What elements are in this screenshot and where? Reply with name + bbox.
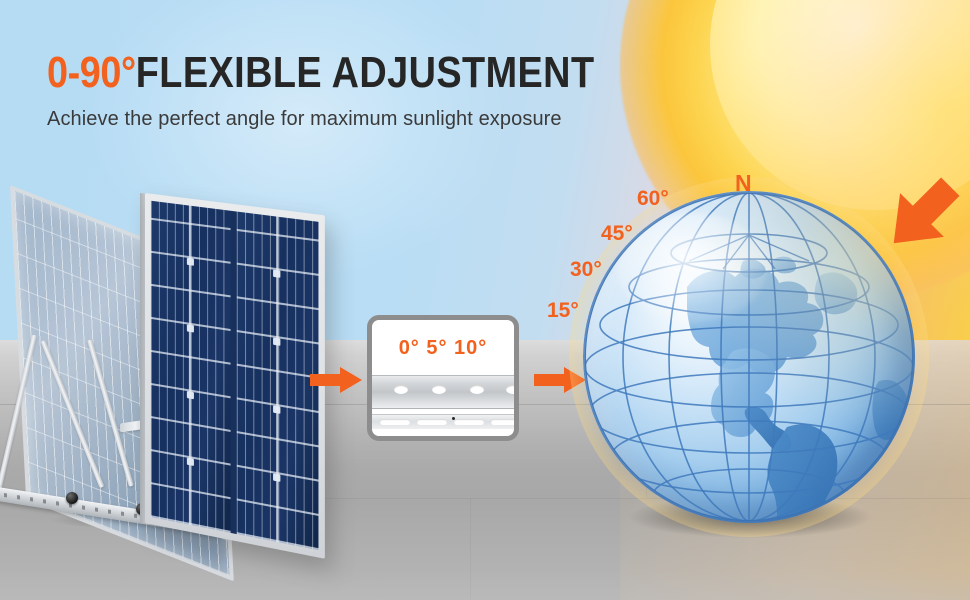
latitude-label-30: 30° xyxy=(570,258,602,282)
page-title: 0-90°FLEXIBLE ADJUSTMENT xyxy=(47,48,594,98)
arrow-sun-to-globe-icon xyxy=(876,172,968,258)
bifold-solar-panel xyxy=(0,185,340,545)
page-subtitle: Achieve the perfect angle for maximum su… xyxy=(47,108,562,131)
callout-rail-upper xyxy=(372,375,514,409)
latitude-label-45: 45° xyxy=(601,222,633,246)
panel-cell-array xyxy=(151,201,319,550)
latitude-label-15: 15° xyxy=(547,299,579,323)
headline-accent: 0-90° xyxy=(47,48,136,97)
arrow-panel-to-callout-icon xyxy=(310,367,362,393)
latitude-label-60: 60° xyxy=(637,187,669,211)
earth-globe xyxy=(583,191,915,523)
angle-increment-label: 0° 5° 10° xyxy=(372,337,514,360)
callout-rail-lower xyxy=(372,414,514,429)
globe-sphere xyxy=(583,191,915,523)
cell-column xyxy=(236,211,318,550)
cell-column xyxy=(151,201,230,533)
panel-front-face xyxy=(145,193,325,559)
globe-outline xyxy=(583,191,915,523)
promo-banner: 0-90°FLEXIBLE ADJUSTMENT Achieve the per… xyxy=(0,0,970,600)
headline-main: FLEXIBLE ADJUSTMENT xyxy=(136,48,595,97)
ground-bottom-fade xyxy=(0,570,970,600)
angle-increment-callout: 0° 5° 10° xyxy=(367,315,519,441)
globe-pole-label-n: N xyxy=(735,170,752,197)
adjust-knob xyxy=(66,492,78,504)
